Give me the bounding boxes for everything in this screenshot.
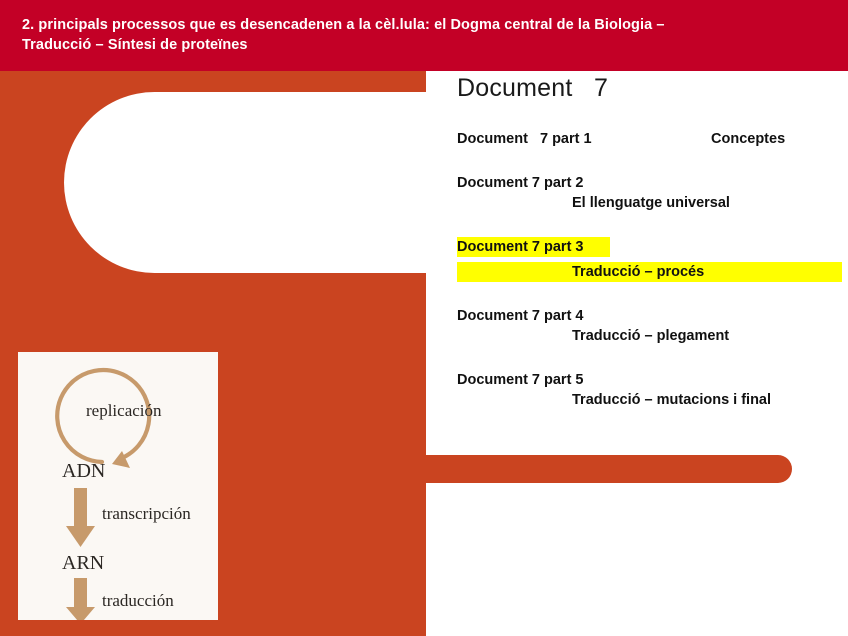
document-part-subtitle: Traducció – plegament [457, 328, 729, 344]
figure-label-transcripcion: transcripción [102, 504, 191, 523]
document-part-item[interactable]: Document 7 part 4 Traducció – plegament [457, 306, 842, 346]
header-banner: 2. principals processos que es desencade… [0, 0, 848, 71]
page-title: 2. principals processos que es desencade… [22, 15, 822, 55]
document-part-label: Document 7 part 5 [457, 372, 584, 388]
document-part-subtitle: Traducció – mutacions i final [457, 392, 771, 408]
figure-label-replicacion: replicación [86, 401, 162, 420]
document-part-item[interactable]: Document 7 part 1 Conceptes [457, 129, 842, 149]
white-pill-shape [64, 92, 444, 273]
document-part-label: Document 7 part 4 [457, 308, 584, 324]
document-part-item[interactable]: Document 7 part 2 El llenguatge universa… [457, 173, 842, 213]
central-dogma-figure: replicación ADN transcripción ARN traduc… [18, 352, 218, 620]
orange-accent-bar [340, 455, 792, 483]
document-heading: Document 7 [457, 74, 842, 103]
document-part-subtitle: Traducció – procés [457, 262, 842, 282]
document-part-item[interactable]: Document 7 part 5 Traducció – mutacions … [457, 370, 842, 410]
document-part-label: Document 7 part 3 [457, 237, 610, 257]
document-part-label: Document 7 part 2 [457, 175, 584, 191]
document-list-panel: Document 7 Document 7 part 1 Conceptes D… [457, 74, 842, 410]
figure-label-traduccion: traducción [102, 591, 174, 610]
document-part-item-highlighted[interactable]: Document 7 part 3 Traducció – procés [457, 237, 842, 282]
slide: 2. principals processos que es desencade… [0, 0, 848, 636]
figure-node-adn: ADN [62, 460, 105, 482]
document-part-label: Document 7 part 1 [457, 131, 592, 147]
figure-node-arn: ARN [62, 552, 104, 574]
document-part-subtitle: El llenguatge universal [457, 195, 730, 211]
document-part-subtitle: Conceptes [596, 131, 785, 147]
